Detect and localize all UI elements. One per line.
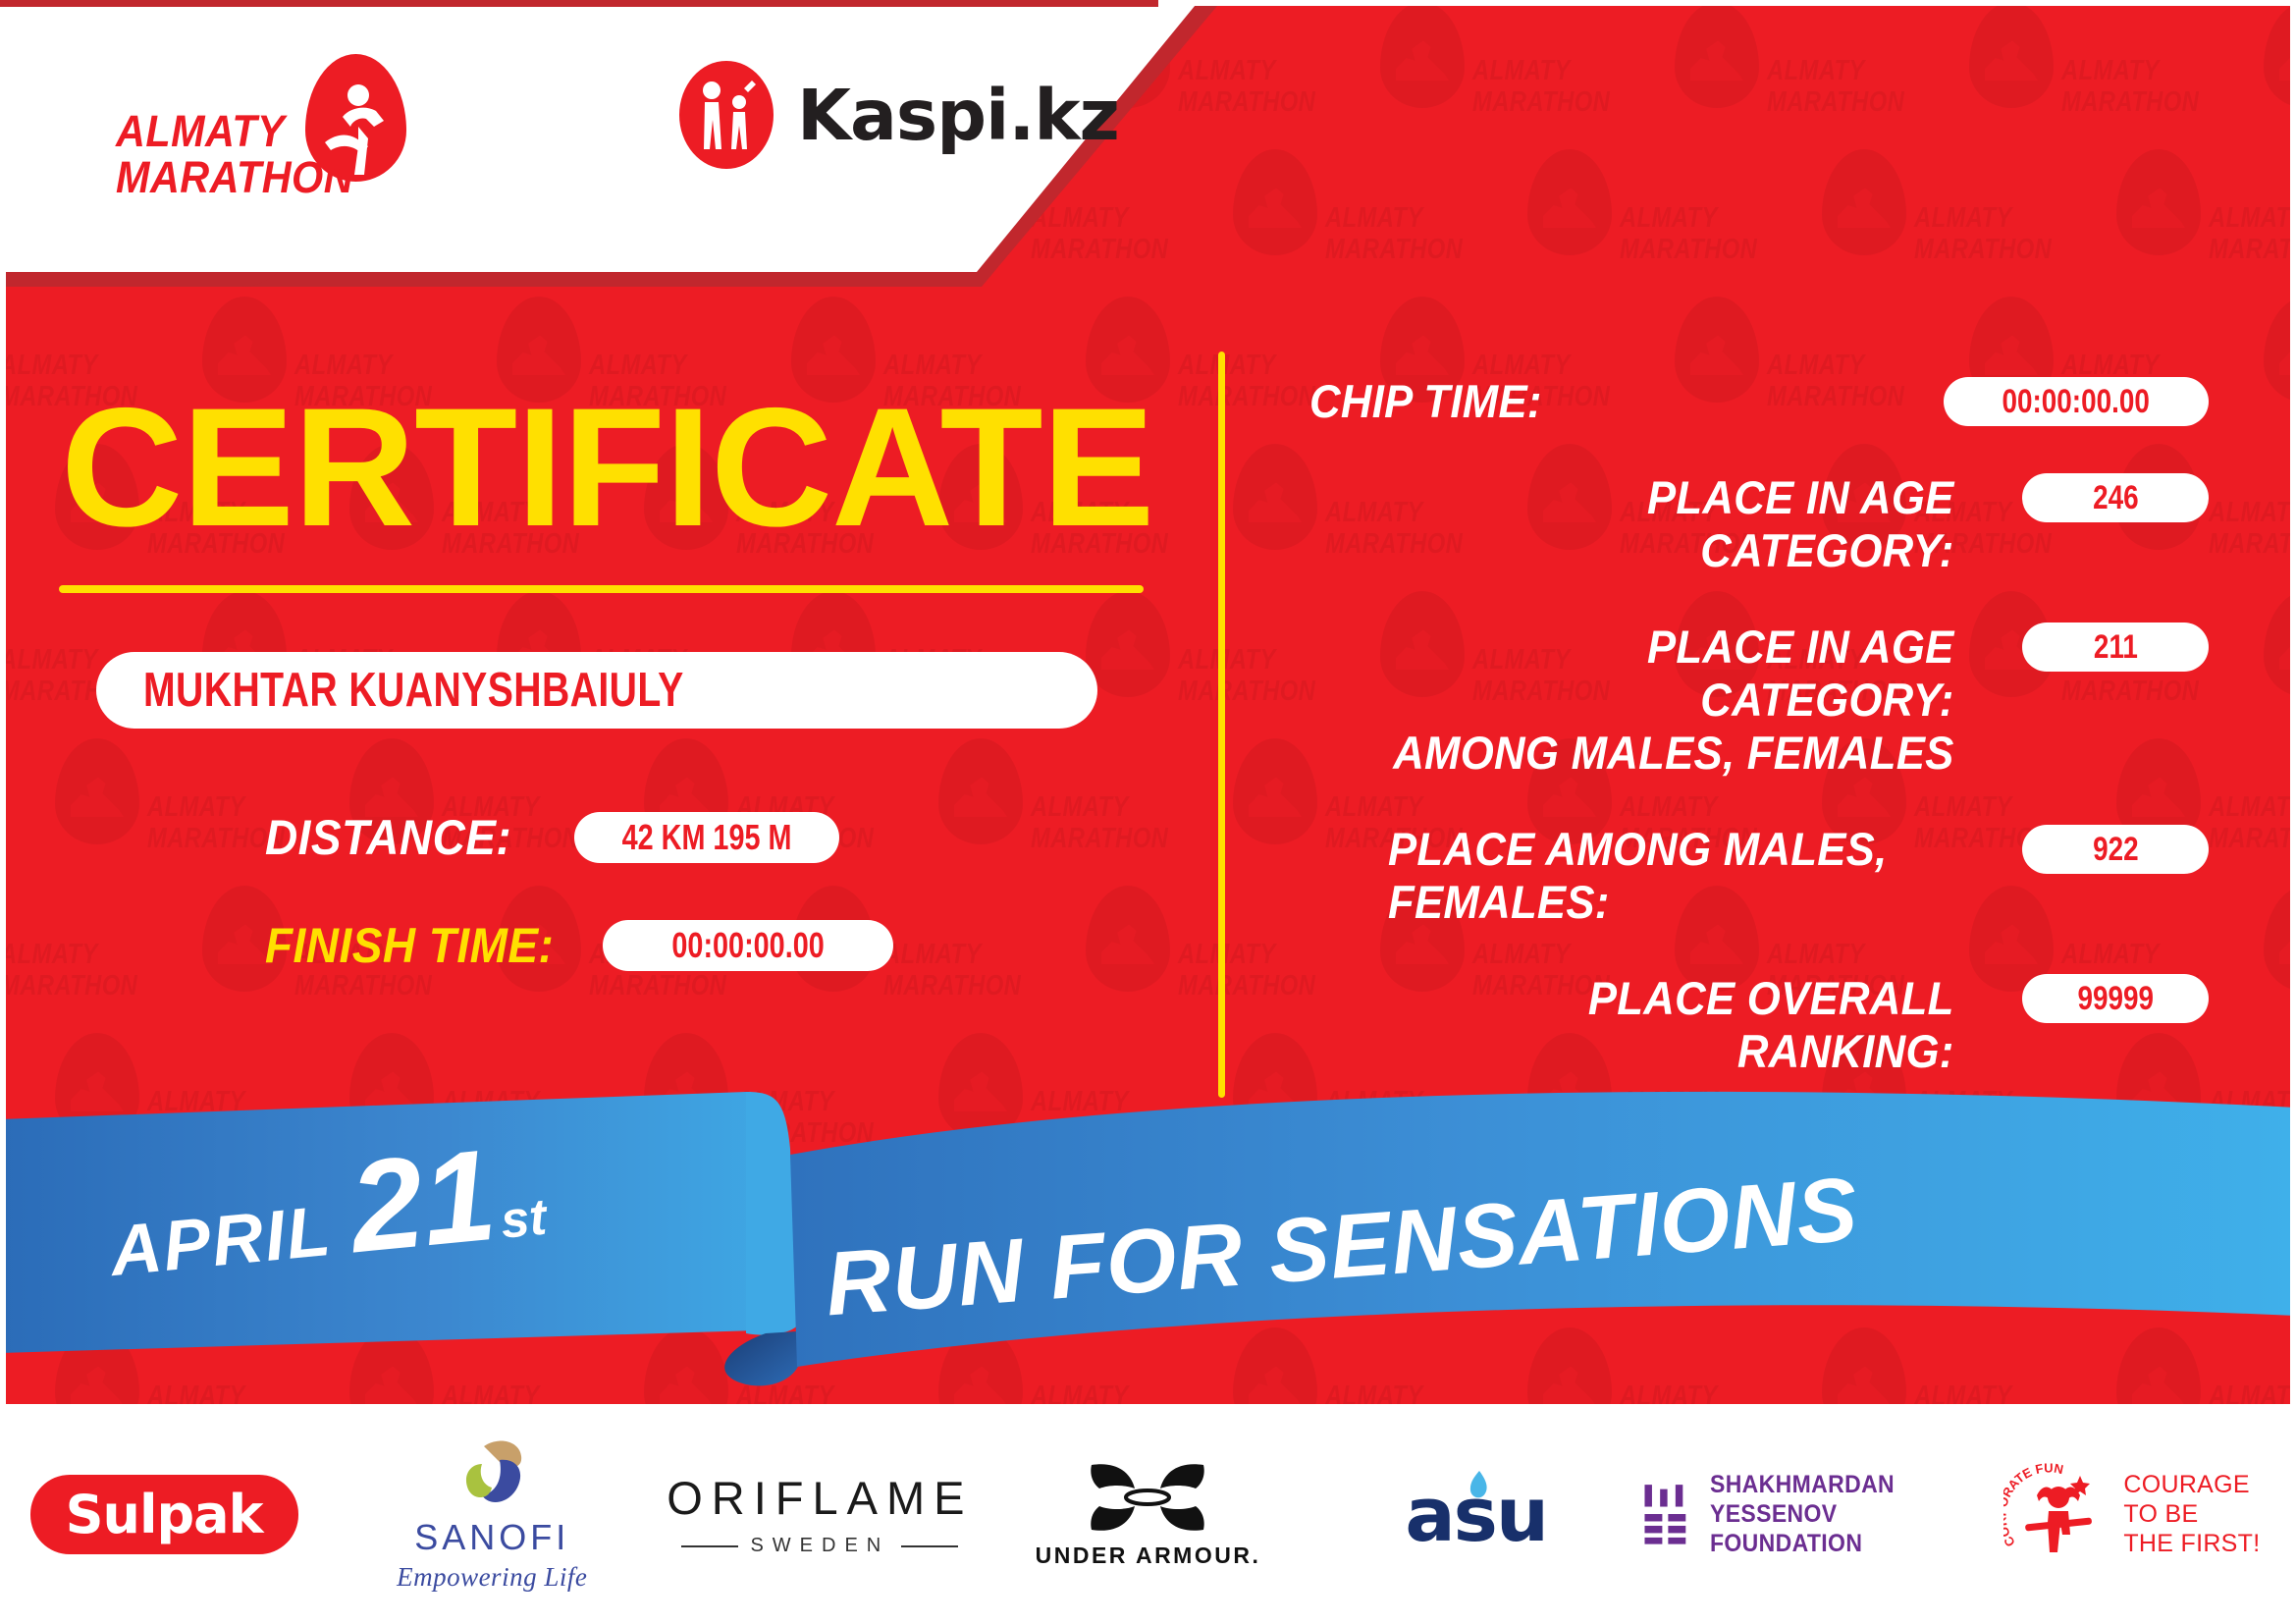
watermark-line2: MARATHON: [1031, 234, 1168, 266]
watermark-line2: MARATHON: [2209, 528, 2296, 561]
marathon-logo-text: ALMATY MARATHON: [116, 108, 353, 200]
watermark-line1: ALMATY: [2061, 55, 2160, 87]
watermark-line1: ALMATY: [1178, 55, 1276, 87]
place-among-gender-value: 922: [2093, 831, 2139, 869]
sponsor-yessenov: SHAKHMARDAN YESSENOV FOUNDATION: [1640, 1404, 1968, 1624]
watermark-tile: ALMATYMARATHON: [2209, 442, 2296, 589]
watermark-line2: MARATHON: [589, 970, 726, 1002]
frame-accent: [0, 0, 1158, 7]
place-among-gender-row: PLACE AMONG MALES, FEMALES: 922: [1306, 823, 2209, 929]
oriflame-tagline: SWEDEN: [750, 1535, 889, 1557]
chip-time-value-field: 00:00:00.00: [1944, 377, 2209, 426]
oriflame-rule-right: [901, 1545, 958, 1547]
place-age-category-gender-value-field: 211: [2022, 623, 2209, 672]
watermark-line1: ALMATY: [1472, 55, 1571, 87]
place-age-category-label: PLACE IN AGE CATEGORY:: [1388, 471, 1954, 577]
watermark-drop-icon: [1233, 149, 1317, 255]
kaspi-logo: Kaspi.kz: [677, 61, 1119, 169]
courage-fund-line3: THE FIRST!: [2123, 1529, 2260, 1558]
title-underline: [59, 585, 1144, 593]
watermark-line2: MARATHON: [294, 970, 432, 1002]
watermark-line2: MARATHON: [0, 970, 137, 1002]
sponsor-under-armour: UNDER ARMOUR.: [984, 1404, 1311, 1624]
watermark-line2: MARATHON: [2209, 823, 2296, 855]
place-among-gender-value-field: 922: [2022, 825, 2209, 874]
sponsor-courage-fund: CORPORATE FUND COURAGE TO BE THE FIRST!: [1968, 1404, 2296, 1624]
place-age-category-gender-label: PLACE IN AGE CATEGORY: AMONG MALES, FEMA…: [1388, 621, 1954, 780]
watermark-tile: ALMATYMARATHON: [1767, 0, 2061, 147]
watermark-tile: ALMATYMARATHON: [1914, 147, 2209, 295]
watermark-line1: ALMATY: [1620, 202, 1718, 235]
watermark-drop-icon: [1675, 2, 1759, 108]
yessenov-line1: SHAKHMARDAN YESSENOV: [1710, 1470, 1948, 1529]
yessenov-logo: SHAKHMARDAN YESSENOV FOUNDATION: [1640, 1470, 1968, 1558]
watermark-tile: ALMATYMARATHON: [1325, 147, 1620, 295]
watermark-drop-icon: [1527, 149, 1612, 255]
sanofi-logo: SANOFI Empowering Life: [397, 1436, 587, 1593]
place-overall-value-field: 99999: [2022, 974, 2209, 1023]
place-age-category-gender-value: 211: [2093, 628, 2137, 667]
watermark-line2: MARATHON: [2061, 86, 2199, 119]
watermark-line2: MARATHON: [883, 970, 1021, 1002]
oriflame-logo-text: ORIFLAME: [667, 1471, 973, 1525]
athlete-name-field: MUKHTAR KUANYSHBAIULY: [96, 652, 1097, 729]
watermark-tile: ALMATYMARATHON: [2209, 736, 2296, 884]
results-column: CHIP TIME: 00:00:00.00 PLACE IN AGE CATE…: [1306, 375, 2209, 1121]
place-among-gender-label: PLACE AMONG MALES, FEMALES:: [1388, 823, 1954, 929]
asu-droplet-icon: [1466, 1469, 1491, 1502]
under-armour-mark-icon: [1084, 1459, 1211, 1536]
certificate-card: ALMATYMARATHONALMATYMARATHONALMATYMARATH…: [0, 0, 2296, 1624]
almaty-marathon-logo: ALMATY MARATHON: [116, 54, 459, 191]
under-armour-logo-text: UNDER ARMOUR.: [1036, 1543, 1261, 1569]
athlete-name-value: MUKHTAR KUANYSHBAIULY: [143, 663, 684, 718]
watermark-line1: ALMATY: [1178, 644, 1276, 677]
place-age-category-gender-row: PLACE IN AGE CATEGORY: AMONG MALES, FEMA…: [1306, 621, 2209, 780]
place-age-category-gender-label-line2: AMONG MALES, FEMALES: [1388, 727, 1954, 780]
place-age-category-value-field: 246: [2022, 473, 2209, 522]
watermark-line2: MARATHON: [1178, 381, 1315, 413]
frame-bottom: [0, 1618, 2296, 1624]
watermark-line2: MARATHON: [1178, 970, 1315, 1002]
place-among-gender-label-line2: FEMALES:: [1388, 876, 1954, 929]
watermark-drop-icon: [1822, 149, 1906, 255]
sanofi-logo-text: SANOFI: [414, 1517, 569, 1558]
watermark-line2: MARATHON: [2209, 234, 2296, 266]
sponsor-oriflame: ORIFLAME SWEDEN: [656, 1404, 984, 1624]
watermark-line2: MARATHON: [1620, 234, 1757, 266]
sponsor-sanofi: SANOFI Empowering Life: [328, 1404, 656, 1624]
watermark-line2: MARATHON: [1472, 86, 1610, 119]
finish-time-value-field: 00:00:00.00: [603, 920, 893, 971]
chip-time-row: CHIP TIME: 00:00:00.00: [1306, 375, 2209, 428]
watermark-line2: MARATHON: [1178, 86, 1315, 119]
oriflame-logo: ORIFLAME SWEDEN: [667, 1471, 973, 1557]
yessenov-logo-text: SHAKHMARDAN YESSENOV FOUNDATION: [1710, 1470, 1968, 1558]
place-overall-row: PLACE OVERALL RANKING: 99999: [1306, 972, 2209, 1078]
place-age-category-row: PLACE IN AGE CATEGORY: 246: [1306, 471, 2209, 577]
watermark-line1: ALMATY: [2209, 202, 2296, 235]
yessenov-mark-icon: [1640, 1473, 1688, 1555]
sanofi-mark-icon: [447, 1436, 537, 1511]
watermark-tile: ALMATYMARATHON: [2209, 147, 2296, 295]
watermark-line1: ALMATY: [2209, 497, 2296, 529]
frame-right: [2290, 0, 2296, 1624]
distance-value-field: 42 KM 195 M: [574, 812, 839, 863]
marathon-logo-line2: MARATHON: [116, 154, 353, 200]
watermark-tile: ALMATYMARATHON: [1178, 0, 1472, 147]
kaspi-logo-text: Kaspi.kz: [797, 75, 1119, 156]
place-age-category-gender-label-line1: PLACE IN AGE CATEGORY:: [1388, 621, 1954, 727]
courage-fund-text: COURAGE TO BE THE FIRST!: [2123, 1470, 2260, 1558]
header-white-round: [0, 220, 285, 272]
under-armour-logo: UNDER ARMOUR.: [1036, 1459, 1261, 1569]
sponsor-strip: Sulpak SANOFI Empowering Life ORIFLAME S…: [0, 1404, 2296, 1624]
place-among-gender-label-line1: PLACE AMONG MALES,: [1388, 823, 1954, 876]
sponsor-sulpak: Sulpak: [0, 1404, 328, 1624]
event-day: 21: [346, 1141, 500, 1263]
watermark-line1: ALMATY: [1178, 350, 1276, 382]
courage-fund-mark-icon: CORPORATE FUND: [2003, 1460, 2113, 1568]
marathon-logo-line1: ALMATY: [116, 108, 353, 154]
asu-logo: asu: [1405, 1471, 1547, 1558]
page-title: CERTIFICATE: [61, 383, 1178, 552]
watermark-line1: ALMATY: [1914, 202, 2012, 235]
watermark-line1: ALMATY: [1178, 939, 1276, 971]
frame-left: [0, 0, 6, 1624]
place-overall-label: PLACE OVERALL RANKING:: [1388, 972, 1954, 1078]
place-overall-value: 99999: [2077, 980, 2154, 1018]
courage-fund-line2: TO BE: [2123, 1499, 2260, 1529]
watermark-line1: ALMATY: [2209, 791, 2296, 824]
distance-row: DISTANCE: 42 KM 195 M: [265, 809, 1178, 866]
watermark-line2: MARATHON: [1325, 234, 1463, 266]
watermark-line1: ALMATY: [1325, 202, 1423, 235]
sulpak-logo-text: Sulpak: [66, 1484, 263, 1545]
finish-time-value: 00:00:00.00: [671, 925, 824, 966]
distance-value: 42 KM 195 M: [622, 817, 792, 858]
watermark-line1: ALMATY: [1767, 55, 1865, 87]
watermark-line2: MARATHON: [1178, 676, 1315, 708]
finish-time-row: FINISH TIME: 00:00:00.00: [265, 917, 1178, 974]
sulpak-logo: Sulpak: [30, 1475, 298, 1554]
courage-fund-line1: COURAGE: [2123, 1470, 2260, 1499]
oriflame-subline: SWEDEN: [681, 1535, 958, 1557]
watermark-drop-icon: [1969, 2, 2054, 108]
yessenov-line2: FOUNDATION: [1710, 1529, 1948, 1558]
sponsor-asu: asu: [1312, 1404, 1640, 1624]
watermark-tile: ALMATYMARATHON: [1620, 147, 1914, 295]
watermark-tile: ALMATYMARATHON: [1472, 0, 1767, 147]
event-day-suffix: st: [498, 1188, 549, 1251]
oriflame-rule-left: [681, 1545, 738, 1547]
distance-label: DISTANCE:: [265, 809, 511, 866]
place-age-category-value: 246: [2093, 479, 2139, 517]
asu-logo-wrap: asu: [1405, 1471, 1547, 1558]
watermark-line2: MARATHON: [1767, 86, 1904, 119]
column-divider: [1218, 352, 1225, 1098]
chip-time-value: 00:00:00.00: [2002, 383, 2150, 421]
chip-time-label: CHIP TIME:: [1309, 375, 1876, 428]
finish-time-label: FINISH TIME:: [265, 917, 554, 974]
watermark-drop-icon: [2116, 149, 2201, 255]
courage-fund-logo: CORPORATE FUND COURAGE TO BE THE FIRST!: [2003, 1460, 2260, 1568]
watermark-tile: ALMATYMARATHON: [2061, 0, 2296, 147]
kaspi-mark-icon: [677, 61, 775, 169]
left-column: CERTIFICATE MUKHTAR KUANYSHBAIULY DISTAN…: [0, 324, 1178, 974]
watermark-drop-icon: [1380, 2, 1465, 108]
sanofi-tagline: Empowering Life: [397, 1562, 587, 1593]
watermark-line2: MARATHON: [1914, 234, 2052, 266]
